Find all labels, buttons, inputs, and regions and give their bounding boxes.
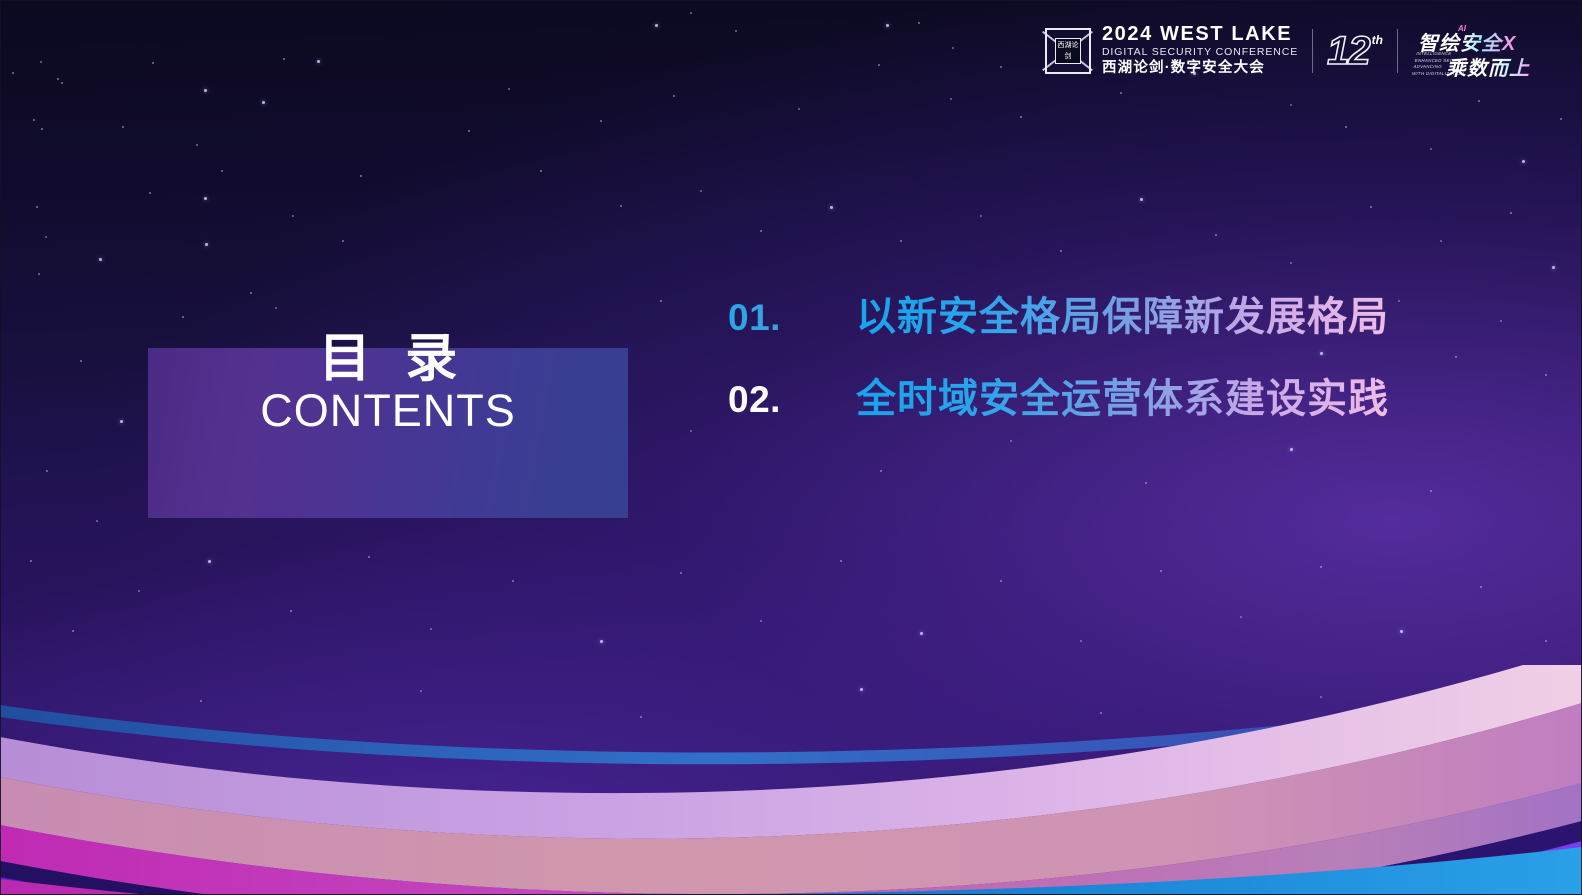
conference-logo-bar: 西湖论剑 2024 WEST LAKE DIGITAL SECURITY CON…	[1045, 22, 1548, 80]
logo-divider-2	[1397, 29, 1398, 73]
west-lake-logo: 西湖论剑 2024 WEST LAKE DIGITAL SECURITY CON…	[1045, 24, 1298, 78]
logo-divider-1	[1312, 29, 1313, 73]
contents-item-02[interactable]: 02. 全时域安全运营体系建设实践	[728, 366, 1389, 448]
conference-year-name: 2024 WEST LAKE	[1102, 24, 1298, 45]
presentation-slide: 西湖论剑 2024 WEST LAKE DIGITAL SECURITY CON…	[0, 0, 1582, 895]
contents-item-02-label: 全时域安全运营体系建设实践	[856, 366, 1389, 424]
edition-badge: 12 th	[1327, 31, 1383, 71]
conference-title-block: 2024 WEST LAKE DIGITAL SECURITY CONFEREN…	[1102, 24, 1298, 78]
theme-line-2: 乘数而上	[1446, 52, 1530, 81]
bottom-wave-decoration	[0, 665, 1582, 895]
theme-logo: AI 智绘安全X INTELLIGENCE ENHANCED SECURITY …	[1412, 25, 1548, 77]
contents-item-02-number: 02.	[728, 379, 856, 421]
conference-title-cn: 西湖论剑·数字安全大会	[1102, 60, 1298, 77]
contents-panel-background	[148, 348, 628, 518]
contents-item-01-number: 01.	[728, 297, 856, 339]
contents-list: 01. 以新安全格局保障新发展格局 02. 全时域安全运营体系建设实践	[728, 284, 1389, 448]
conference-subtitle: DIGITAL SECURITY CONFERENCE	[1102, 45, 1298, 59]
contents-item-01-label: 以新安全格局保障新发展格局	[856, 284, 1389, 342]
contents-item-01[interactable]: 01. 以新安全格局保障新发展格局	[728, 284, 1389, 366]
edition-number: 12	[1327, 31, 1370, 71]
west-lake-emblem-icon: 西湖论剑	[1045, 28, 1091, 74]
edition-ordinal: th	[1372, 33, 1383, 47]
emblem-seal-text: 西湖论剑	[1055, 38, 1081, 64]
